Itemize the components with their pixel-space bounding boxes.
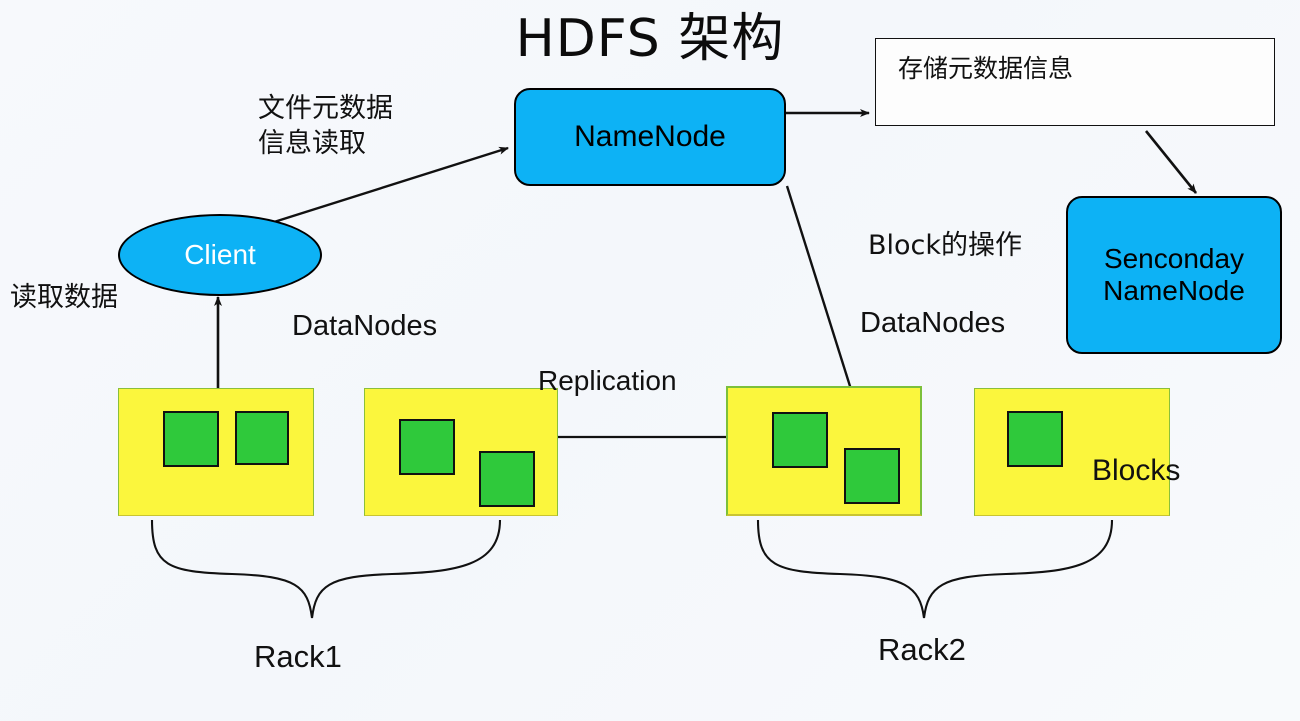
- label-rack2: Rack2: [878, 630, 966, 670]
- node-namenode-label: NameNode: [574, 120, 726, 154]
- node-client[interactable]: Client: [118, 214, 322, 296]
- rack-box-2[interactable]: [364, 388, 558, 516]
- label-rack1: Rack1: [254, 637, 342, 677]
- block-1-2[interactable]: [235, 411, 289, 465]
- label-file-metadata-read: 文件元数据 信息读取: [258, 92, 393, 161]
- brace-rack2-icon: [758, 520, 1112, 618]
- label-read-data: 读取数据: [10, 281, 118, 316]
- block-3-1[interactable]: [772, 412, 828, 468]
- node-namenode[interactable]: NameNode: [514, 88, 786, 186]
- secondary-namenode-line2: NameNode: [1103, 275, 1245, 307]
- block-1-1[interactable]: [163, 411, 219, 467]
- node-metadata-storage-box: 存储元数据信息: [875, 38, 1275, 126]
- label-replication: Replication: [538, 363, 677, 399]
- rack-box-1[interactable]: [118, 388, 314, 516]
- arrow-metadata-box-to-secondary-namenode: [1146, 131, 1196, 193]
- brace-rack1-icon: [152, 520, 500, 618]
- block-3-2[interactable]: [844, 448, 900, 504]
- block-2-2[interactable]: [479, 451, 535, 507]
- hdfs-architecture-diagram: HDFS 架构 NameNode 存储元数: [0, 0, 1300, 721]
- metadata-storage-label: 存储元数据信息: [898, 55, 1073, 84]
- label-block-operation: Block的操作: [868, 229, 1022, 264]
- label-datanodes-right: DataNodes: [860, 305, 1005, 342]
- node-client-label: Client: [184, 239, 256, 271]
- label-datanodes-left: DataNodes: [292, 308, 437, 345]
- block-4-1[interactable]: [1007, 411, 1063, 467]
- rack-box-3[interactable]: [726, 386, 922, 516]
- label-blocks: Blocks: [1092, 452, 1180, 490]
- node-secondary-namenode[interactable]: Senconday NameNode: [1066, 196, 1282, 354]
- block-2-1[interactable]: [399, 419, 455, 475]
- secondary-namenode-line1: Senconday: [1104, 243, 1244, 275]
